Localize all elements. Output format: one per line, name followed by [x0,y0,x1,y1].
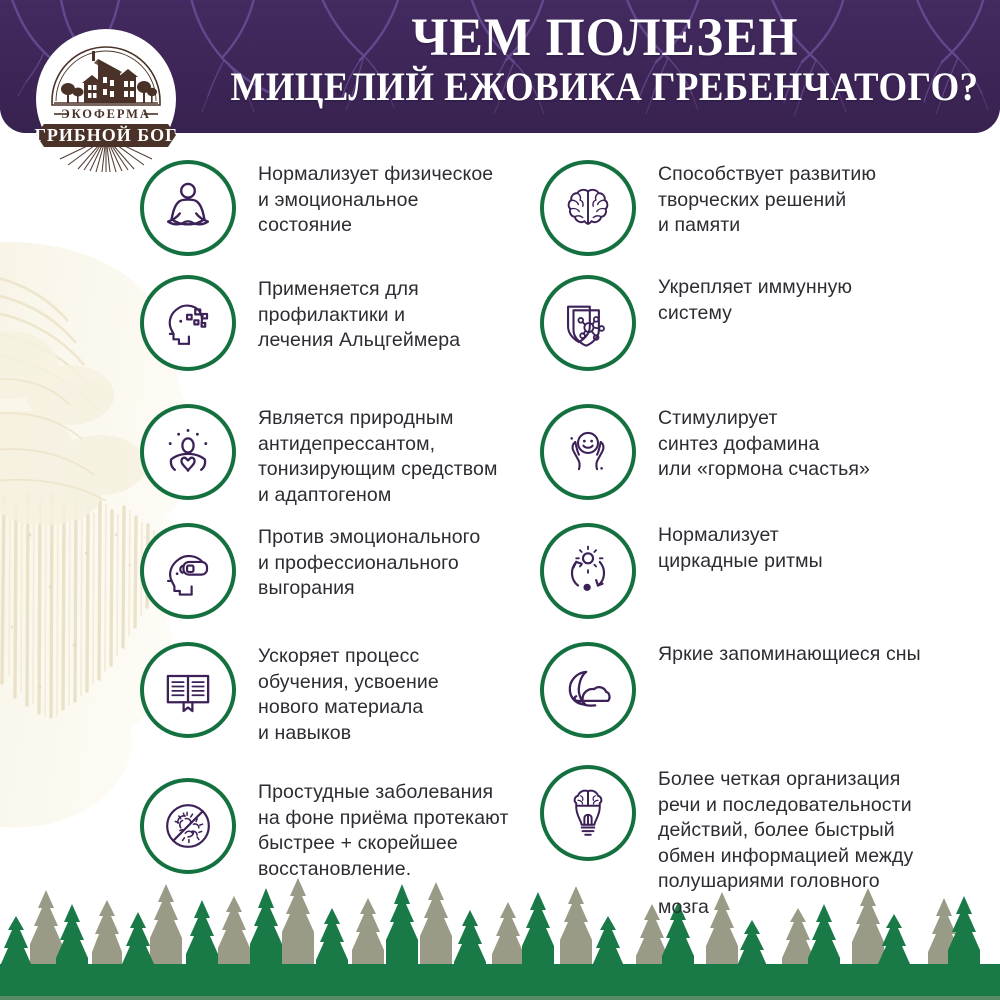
benefit-badge [540,765,636,861]
benefit-badge [540,523,636,619]
benefit-badge [540,404,636,500]
benefit-badge [140,275,236,371]
benefit-badge [140,404,236,500]
benefit-badge [140,778,236,874]
benefit-badge [140,642,236,738]
no-virus-icon [159,797,217,855]
logo-brand-name: ГРИБНОЙ БОГ [34,124,177,145]
benefit-item[interactable]: Является природным антидепрессантом, тон… [140,404,540,508]
benefit-text: Против эмоционального и профессиональног… [258,523,480,602]
benefit-text: Ускоряет процесс обучения, усвоение ново… [258,642,439,746]
page-title: ЧЕМ ПОЛЕЗЕН [412,8,799,66]
benefit-item[interactable]: Способствует развитию творческих решений… [540,160,985,256]
benefit-badge [540,642,636,738]
header-title-block: ЧЕМ ПОЛЕЗЕН МИЦЕЛИЙ ЕЖОВИКА ГРЕБЕНЧАТОГО… [220,8,990,128]
open-book-icon [160,662,216,718]
meditation-lotus-icon [159,179,217,237]
benefit-text: Является природным антидепрессантом, тон… [258,404,497,508]
hands-smiley-dopamine-icon [559,423,617,481]
benefit-text: Применяется для профилактики и лечения А… [258,275,460,354]
benefit-text: Более четкая организация речи и последов… [658,765,913,920]
logo-ecofarm-text: ЭКОФЕРМА [61,107,151,121]
benefit-item[interactable]: Нормализует физическое и эмоциональное с… [140,160,540,256]
benefit-badge [140,523,236,619]
benefit-text: Стимулирует синтез дофамина или «гормона… [658,404,870,483]
benefit-item[interactable]: Применяется для профилактики и лечения А… [140,275,540,371]
lightbulb-brain-idea-icon [559,784,617,842]
benefit-item[interactable]: Более четкая организация речи и последов… [540,765,985,920]
benefit-text: Нормализует циркадные ритмы [658,523,823,574]
benefit-item[interactable]: Простудные заболевания на фоне приёма пр… [140,778,540,882]
benefit-text: Простудные заболевания на фоне приёма пр… [258,778,508,882]
benefit-item[interactable]: Яркие запоминающиеся сны [540,642,985,738]
benefit-item[interactable]: Нормализует циркадные ритмы [540,523,985,619]
benefit-item[interactable]: Против эмоционального и профессиональног… [140,523,540,619]
benefit-text: Способствует развитию творческих решений… [658,160,876,239]
head-vr-headset-burnout-icon [159,542,217,600]
shield-immunity-icon [559,294,617,352]
page-subtitle: МИЦЕЛИЙ ЕЖОВИКА ГРЕБЕНЧАТОГО? [231,64,979,110]
brand-logo[interactable]: ЭКОФЕРМА ГРИБНОЙ БОГ [32,25,180,173]
infographic-poster: ЧЕМ ПОЛЕЗЕН МИЦЕЛИЙ ЕЖОВИКА ГРЕБЕНЧАТОГО… [0,0,1000,1000]
person-heart-sparkle-icon [158,422,218,482]
brain-icon [560,180,616,236]
head-pixels-alzheimer-icon [159,294,217,352]
benefits-grid: Нормализует физическое и эмоциональное с… [0,150,1000,890]
benefit-text: Укрепляет иммунную систему [658,275,852,326]
sun-circadian-cycle-icon [559,542,617,600]
benefit-item[interactable]: Стимулирует синтез дофамина или «гормона… [540,404,985,500]
benefit-item[interactable]: Ускоряет процесс обучения, усвоение ново… [140,642,540,746]
benefit-badge [140,160,236,256]
benefit-text: Нормализует физическое и эмоциональное с… [258,160,493,239]
moon-cloud-dream-icon [559,661,617,719]
benefit-text: Яркие запоминающиеся сны [658,642,921,668]
benefit-item[interactable]: Укрепляет иммунную систему [540,275,985,371]
benefit-badge [540,160,636,256]
benefit-badge [540,275,636,371]
